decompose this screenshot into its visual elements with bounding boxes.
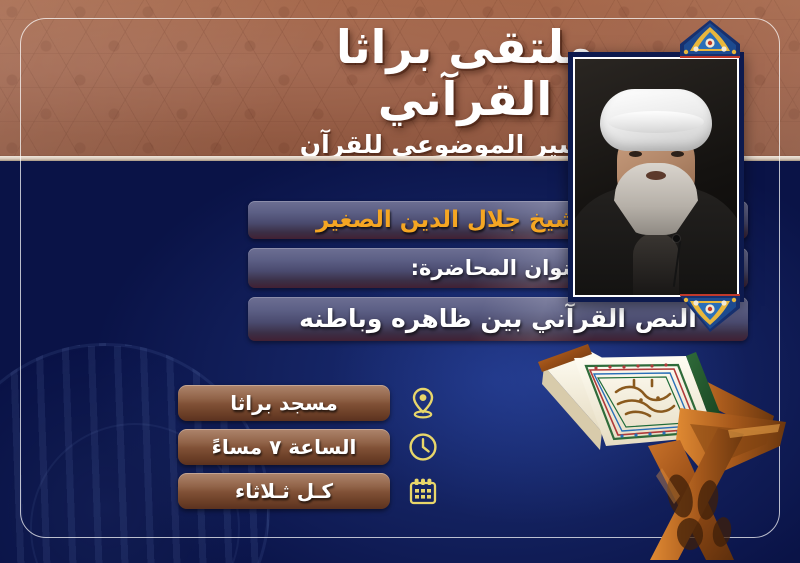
- list-item: كـل ثـلاثاء: [140, 473, 440, 509]
- date-text: كـل ثـلاثاء: [235, 479, 333, 503]
- list-item: مسجد براثا: [140, 385, 440, 421]
- calendar-icon: [406, 474, 440, 508]
- islamic-ornament-top-icon: [656, 18, 764, 58]
- poster-root: ملتقى براثا القرآني التفسير الموضوعي للق…: [0, 0, 800, 563]
- time-button[interactable]: الساعة ٧ مساءً: [178, 429, 390, 465]
- location-button[interactable]: مسجد براثا: [178, 385, 390, 421]
- time-text: الساعة ٧ مساءً: [212, 435, 357, 459]
- clock-icon: [406, 430, 440, 464]
- islamic-ornament-bottom-icon: [656, 294, 764, 334]
- portrait-image: [573, 57, 739, 297]
- quran-on-rehal-icon: [530, 328, 800, 563]
- list-item: الساعة ٧ مساءً: [140, 429, 440, 465]
- location-text: مسجد براثا: [230, 391, 338, 415]
- date-button[interactable]: كـل ثـلاثاء: [178, 473, 390, 509]
- location-pin-icon: [406, 386, 440, 420]
- speaker-portrait: [568, 52, 744, 302]
- portrait-frame: [568, 52, 744, 302]
- event-details-list: مسجد براثا الساعة ٧ مساءً: [140, 385, 440, 517]
